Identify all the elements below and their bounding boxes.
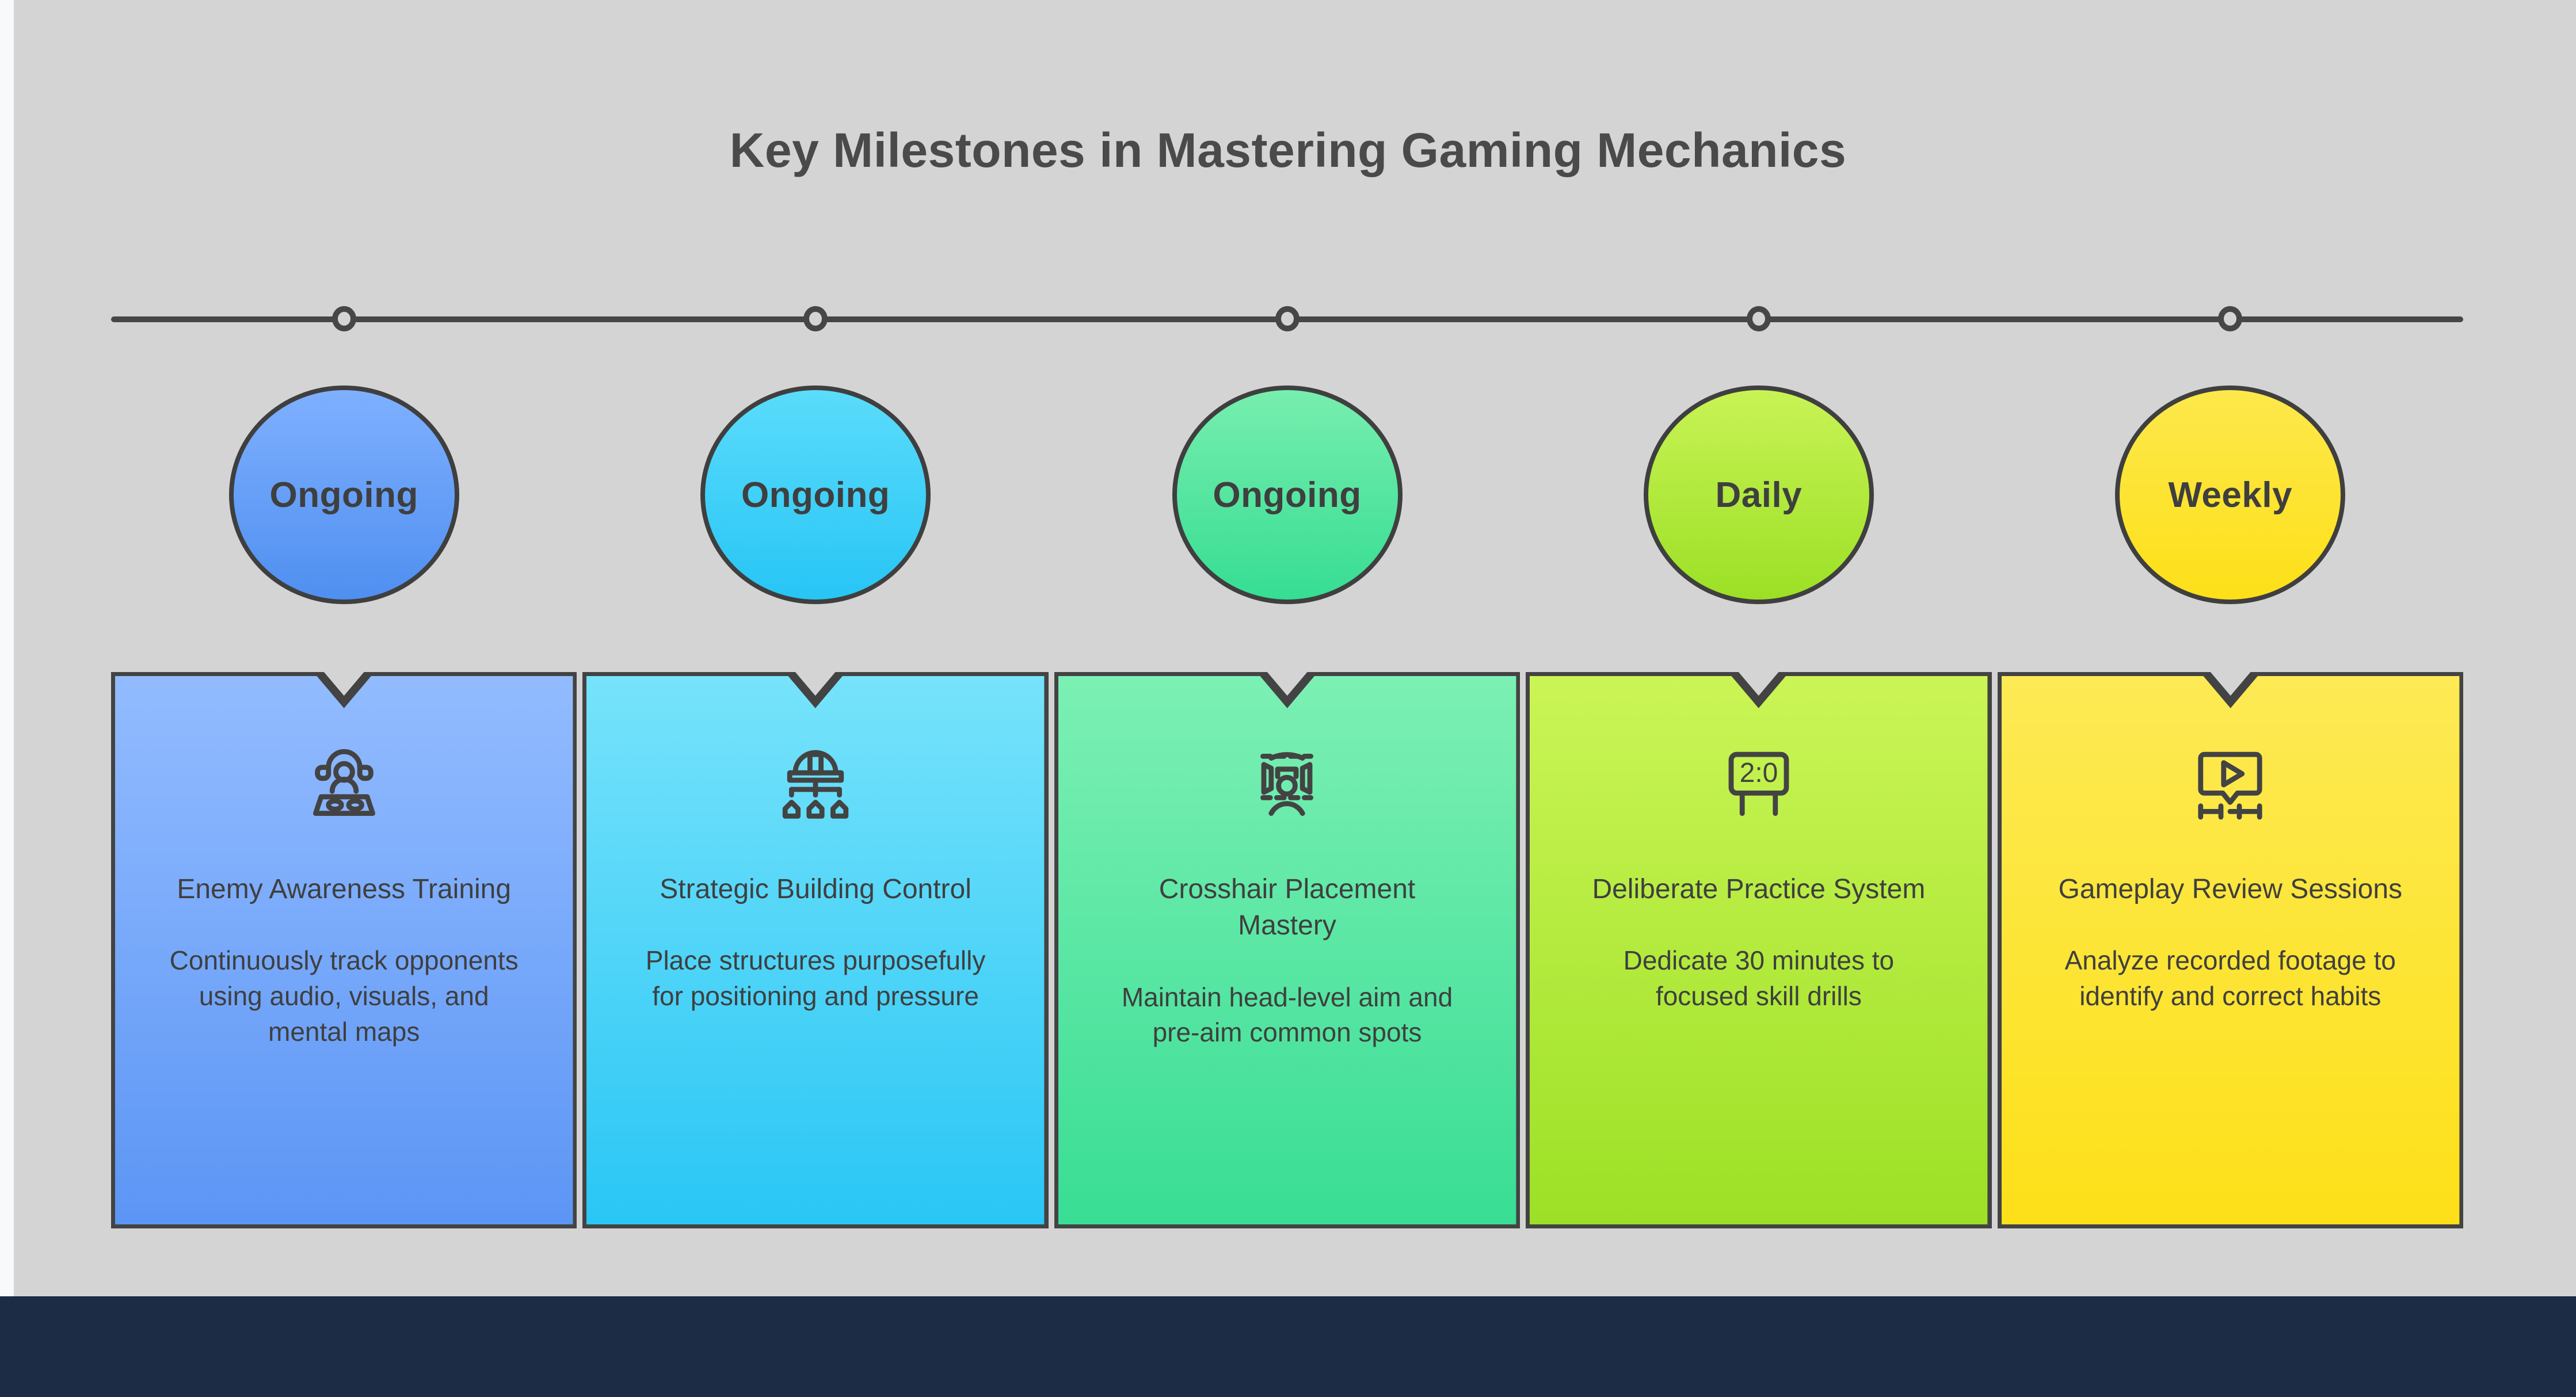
card-shape <box>1054 672 1520 1228</box>
timeline-node-4 <box>1747 306 1771 331</box>
card-shape <box>1998 672 2463 1228</box>
milestone-circle-2[interactable]: Ongoing <box>700 385 931 604</box>
milestone-circle-5[interactable]: Weekly <box>2115 385 2345 604</box>
milestone-card-5[interactable]: Gameplay Review SessionsAnalyze recorded… <box>1998 672 2463 1228</box>
milestone-card-3[interactable]: Crosshair Placement MasteryMaintain head… <box>1054 672 1520 1228</box>
timeline-node-2 <box>803 306 828 331</box>
milestone-cards-row: Enemy Awareness TrainingContinuously tra… <box>111 672 2463 1228</box>
milestone-badge-label: Daily <box>1716 475 1803 516</box>
milestone-circles-row: OngoingOngoingOngoingDailyWeekly <box>111 385 2463 604</box>
milestone-circle-4[interactable]: Daily <box>1644 385 1874 604</box>
milestone-badge-label: Ongoing <box>741 475 890 516</box>
page-title: Key Milestones in Mastering Gaming Mecha… <box>0 124 2576 177</box>
milestone-badge-label: Weekly <box>2169 475 2293 516</box>
card-shape <box>1526 672 1991 1228</box>
milestone-card-1[interactable]: Enemy Awareness TrainingContinuously tra… <box>111 672 577 1228</box>
milestone-badge-label: Ongoing <box>1213 475 1361 516</box>
milestone-card-2[interactable]: Strategic Building ControlPlace structur… <box>582 672 1048 1228</box>
milestone-circle-1[interactable]: Ongoing <box>229 385 459 604</box>
card-shape <box>582 672 1048 1228</box>
milestone-circle-3[interactable]: Ongoing <box>1172 385 1403 604</box>
timeline-node-3 <box>1275 306 1300 331</box>
timeline-node-1 <box>332 306 356 331</box>
timeline-node-5 <box>2218 306 2242 331</box>
milestone-badge-label: Ongoing <box>270 475 418 516</box>
card-shape <box>111 672 577 1228</box>
milestone-card-4[interactable]: 2:0Deliberate Practice SystemDedicate 30… <box>1526 672 1991 1228</box>
footer-bar <box>0 1296 2576 1397</box>
timeline-track <box>111 314 2463 323</box>
infographic-stage: Key Milestones in Mastering Gaming Mecha… <box>0 0 2576 1397</box>
